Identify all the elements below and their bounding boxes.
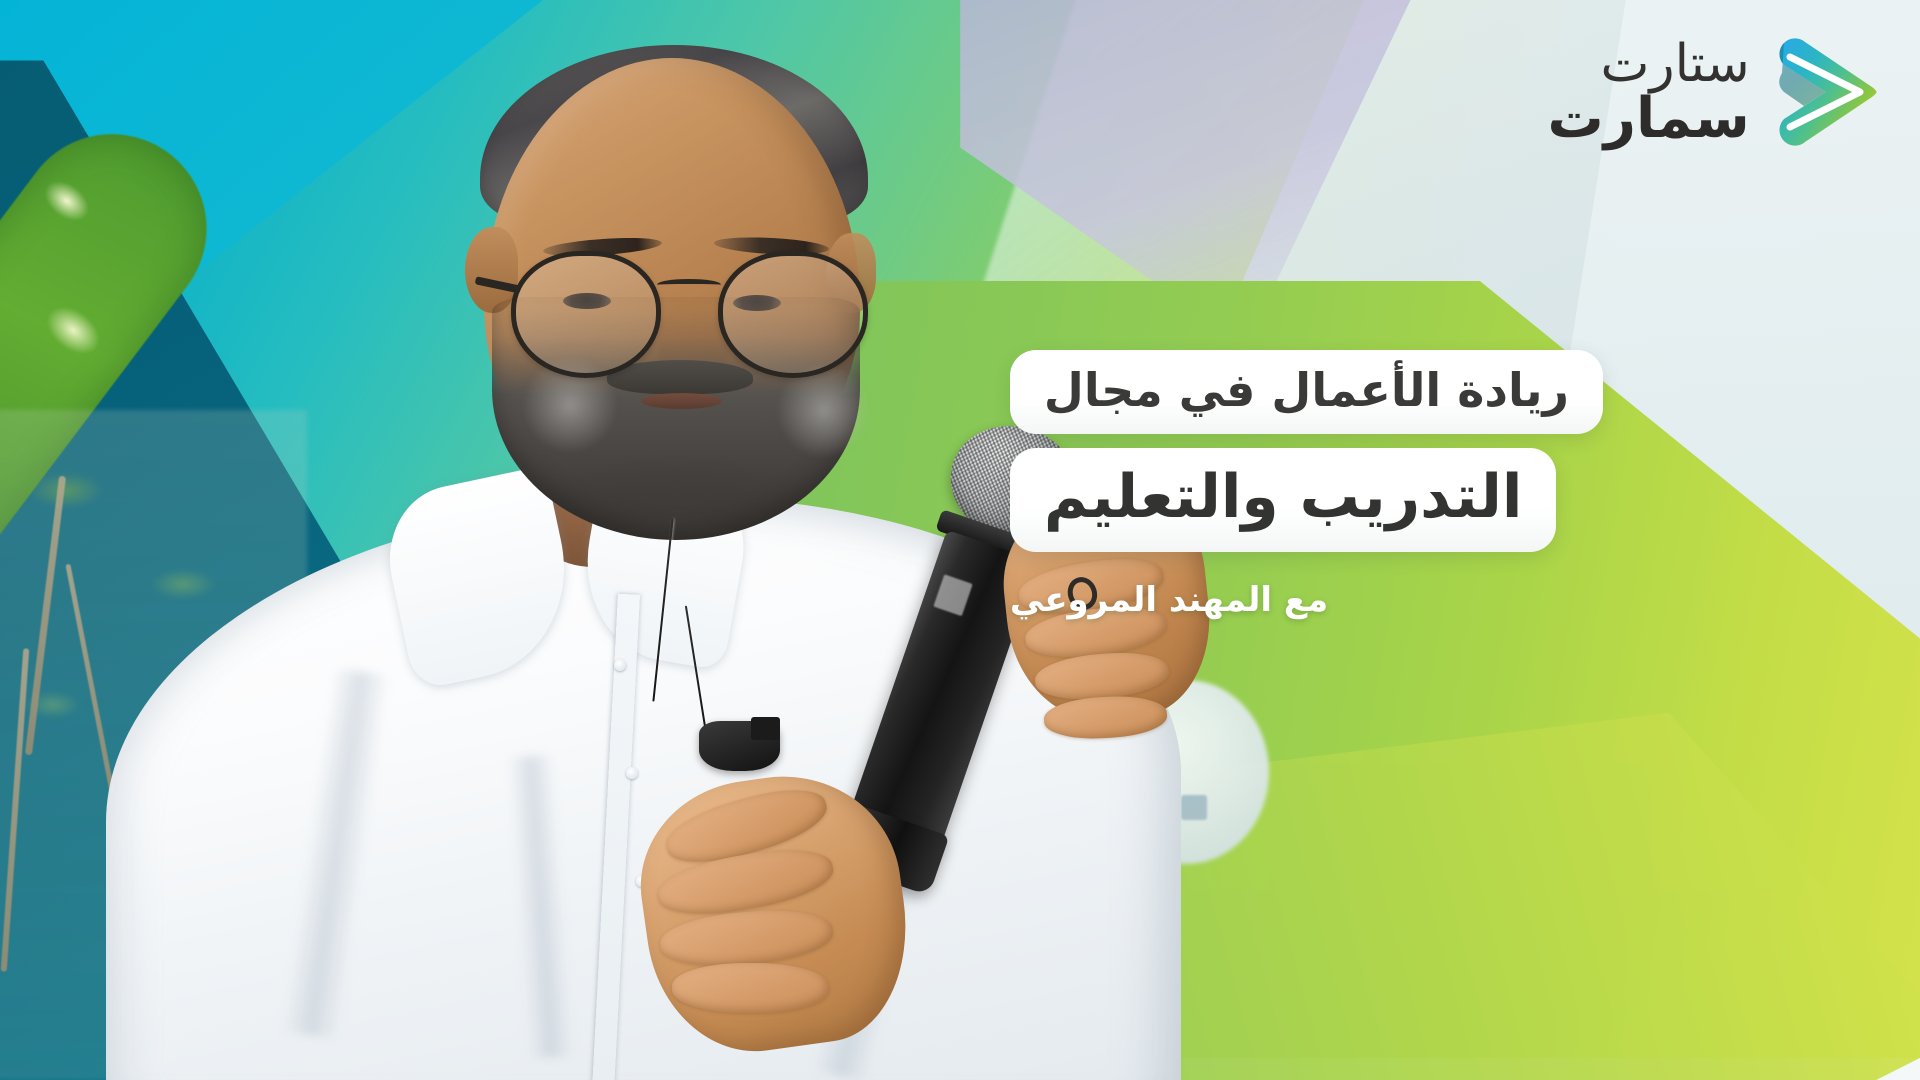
chevron-play-mark-icon (1768, 33, 1880, 151)
lavalier-mic-capsule (751, 717, 780, 740)
brand-logo-line-2: سمارت (1548, 92, 1750, 146)
shirt-button-1 (614, 659, 626, 671)
shirt-button-2 (626, 767, 638, 779)
brand-logo-line-1: ستارت (1548, 40, 1750, 90)
subtitle-presenter: مع المهند المروعي (1010, 580, 1328, 620)
brand-logo[interactable]: ستارت سمارت (1548, 33, 1880, 151)
low-finger-4 (672, 963, 829, 1013)
brand-logo-text: ستارت سمارت (1548, 40, 1750, 146)
eyeglasses-icon (511, 251, 868, 378)
title-line-1-card: ريادة الأعمال في مجال (1010, 350, 1603, 434)
title-line-2-card: التدريب والتعليم (1010, 448, 1557, 552)
lens-right (718, 251, 868, 378)
thumbnail-canvas: ستارت سمارت ريادة الأعمال في مجال التدري… (0, 0, 1920, 1080)
glasses-bridge (657, 279, 721, 290)
title-block: ريادة الأعمال في مجال التدريب والتعليم م… (1010, 350, 1874, 620)
lens-left (511, 251, 661, 378)
